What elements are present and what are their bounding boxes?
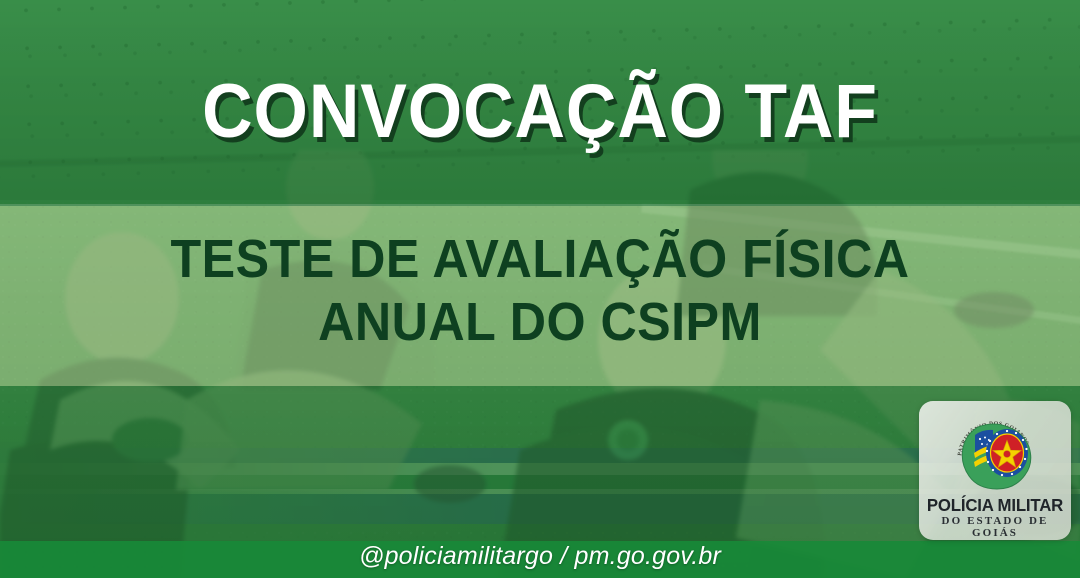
policia-militar-logo: PATRIMÔNIO DOS GOIANOS (919, 401, 1071, 540)
logo-title: POLÍCIA MILITAR (922, 495, 1068, 516)
convocacao-taf-banner: CONVOCAÇÃO TAF TESTE DE AVALIAÇÃO FÍSICA… (0, 0, 1080, 578)
social-handle-text: @policiamilitargo / pm.go.gov.br (0, 542, 1080, 571)
page-subtitle: TESTE DE AVALIAÇÃO FÍSICA ANUAL DO CSIPM (38, 228, 1042, 353)
subtitle-line-1: TESTE DE AVALIAÇÃO FÍSICA (171, 229, 910, 289)
page-title: CONVOCAÇÃO TAF (43, 74, 1037, 150)
goias-coat-of-arms-icon: PATRIMÔNIO DOS GOIANOS (945, 409, 1045, 493)
subtitle-line-2: ANUAL DO CSIPM (38, 291, 1042, 354)
logo-subtitle: DO ESTADO DE GOIÁS (919, 515, 1071, 539)
